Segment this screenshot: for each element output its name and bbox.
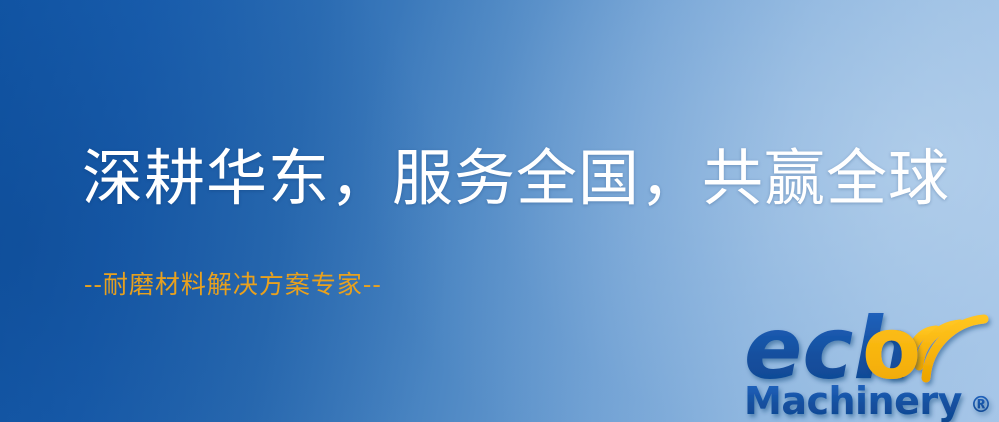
logo-trademark-symbol: ®: [970, 393, 992, 418]
echo-machinery-logo: ech o Machinery ®: [742, 296, 999, 422]
banner-subtitle: --耐磨材料解决方案专家--: [84, 265, 382, 301]
echo-wave-arcs: [912, 319, 984, 378]
banner-headline: 深耕华东，服务全国，共赢全球: [82, 147, 950, 211]
logo-tagline-text: Machinery: [744, 379, 963, 422]
logo-svg: ech o Machinery ®: [742, 296, 999, 422]
logo-tagline: Machinery ®: [744, 379, 992, 422]
promo-banner: 深耕华东，服务全国，共赢全球 --耐磨材料解决方案专家--: [0, 0, 999, 422]
